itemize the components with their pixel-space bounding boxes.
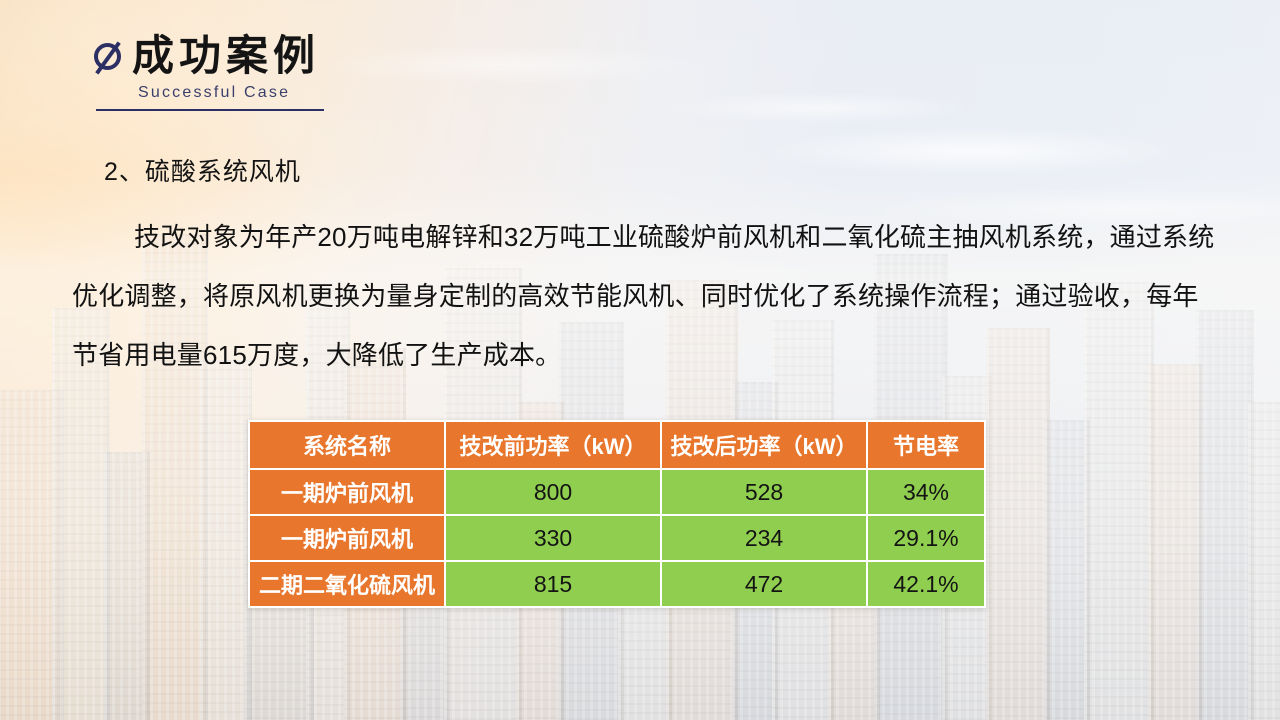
cell-saving-rate: 34% [867, 469, 985, 515]
slide-canvas: 成功案例 Successful Case 2、硫酸系统风机 技改对象为年产20万… [0, 0, 1280, 720]
cell-power-after: 472 [661, 561, 867, 607]
cell-saving-rate: 29.1% [867, 515, 985, 561]
page-title: 成功案例 [132, 34, 320, 78]
savings-table: 系统名称 技改前功率（kW） 技改后功率（kW） 节电率 一期炉前风机 800 … [248, 420, 986, 608]
table-body: 一期炉前风机 800 528 34% 一期炉前风机 330 234 29.1% … [249, 469, 985, 607]
title-divider [96, 109, 324, 111]
cell-saving-rate: 42.1% [867, 561, 985, 607]
cell-system-name: 一期炉前风机 [249, 469, 445, 515]
column-header-saving-rate: 节电率 [867, 421, 985, 469]
cell-power-after: 234 [661, 515, 867, 561]
table-header-row: 系统名称 技改前功率（kW） 技改后功率（kW） 节电率 [249, 421, 985, 469]
column-header-power-after: 技改后功率（kW） [661, 421, 867, 469]
cell-power-after: 528 [661, 469, 867, 515]
cell-power-before: 800 [445, 469, 661, 515]
table-row: 一期炉前风机 330 234 29.1% [249, 515, 985, 561]
slashed-circle-logo-icon [92, 41, 126, 75]
cell-system-name: 二期二氧化硫风机 [249, 561, 445, 607]
table-row: 二期二氧化硫风机 815 472 42.1% [249, 561, 985, 607]
page-subtitle: Successful Case [138, 84, 324, 102]
cell-power-before: 815 [445, 561, 661, 607]
cell-system-name: 一期炉前风机 [249, 515, 445, 561]
slide-title-block: 成功案例 Successful Case [92, 34, 324, 111]
body-line-3: 节省用电量615万度，大降低了生产成本。 [72, 326, 1252, 385]
section-heading: 2、硫酸系统风机 [104, 152, 301, 188]
table-header: 系统名称 技改前功率（kW） 技改后功率（kW） 节电率 [249, 421, 985, 469]
column-header-power-before: 技改前功率（kW） [445, 421, 661, 469]
cell-power-before: 330 [445, 515, 661, 561]
column-header-system-name: 系统名称 [249, 421, 445, 469]
slide-content: 成功案例 Successful Case 2、硫酸系统风机 技改对象为年产20万… [0, 0, 1280, 720]
body-paragraph: 技改对象为年产20万吨电解锌和32万吨工业硫酸炉前风机和二氧化硫主抽风机系统，通… [72, 208, 1252, 385]
body-line-1: 技改对象为年产20万吨电解锌和32万吨工业硫酸炉前风机和二氧化硫主抽风机系统，通… [72, 208, 1252, 267]
table-row: 一期炉前风机 800 528 34% [249, 469, 985, 515]
title-row: 成功案例 [92, 34, 324, 78]
body-line-2: 优化调整，将原风机更换为量身定制的高效节能风机、同时优化了系统操作流程；通过验收… [72, 267, 1252, 326]
